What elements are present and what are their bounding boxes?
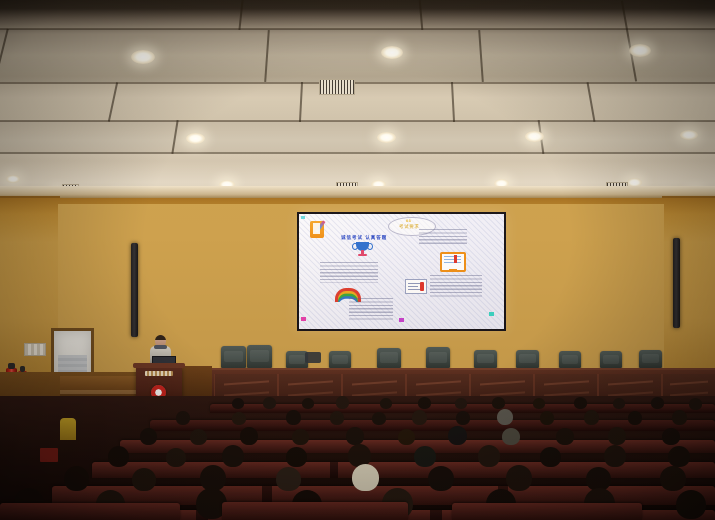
slide-corner-marker <box>489 312 494 316</box>
yellow-jacket-attendee <box>60 418 76 440</box>
audience-head <box>380 398 392 409</box>
audience-head <box>286 447 307 467</box>
trophy-icon <box>356 242 369 256</box>
audience-head <box>608 427 626 445</box>
audience-seat-row-front[interactable] <box>222 502 408 520</box>
audience-head <box>672 410 687 425</box>
audience-head <box>556 428 574 445</box>
ceiling-downlight <box>629 44 651 57</box>
audience-head <box>232 412 246 425</box>
presenter-collar <box>154 345 167 349</box>
slide-corner-marker <box>301 317 306 321</box>
audience-head <box>330 411 344 425</box>
audience-seat-row-front[interactable] <box>452 503 642 520</box>
audience-head <box>222 445 244 467</box>
audience-head <box>574 397 587 409</box>
auditorium-photo: 03 考试要求 诚信考试 认真答题 <box>0 0 715 520</box>
ceiling-downlight <box>680 130 698 140</box>
audience-head <box>497 409 513 425</box>
slide-section-title: 考试要求 <box>399 224 419 230</box>
audience-head <box>140 428 157 445</box>
stage-riser <box>178 366 212 400</box>
audience-head <box>352 464 379 491</box>
audience-head <box>132 468 156 491</box>
audience-head <box>286 410 301 425</box>
audience-head <box>428 466 454 491</box>
audience-head <box>448 426 467 445</box>
notepad-pencil-icon <box>310 221 324 238</box>
audience-head <box>689 398 702 410</box>
stage-chair[interactable] <box>559 351 581 368</box>
audience-head <box>502 428 520 445</box>
stage-chair[interactable] <box>516 350 539 368</box>
audience-head <box>176 411 190 425</box>
slide-corner-marker <box>399 318 404 322</box>
audience-head <box>651 397 664 409</box>
ceiling-downlight <box>131 50 155 64</box>
audience-head <box>613 398 625 409</box>
presentation-slide: 03 考试要求 诚信考试 认真答题 <box>299 214 504 329</box>
audience-head <box>240 427 258 445</box>
audience-head <box>190 429 207 445</box>
audience-head <box>64 466 89 491</box>
text-block-right-lower <box>430 275 482 299</box>
audience-head <box>628 411 642 425</box>
document-card-icon <box>405 279 427 294</box>
ceiling-downlight <box>6 175 20 183</box>
audience-head <box>584 410 599 425</box>
seated-audience <box>0 396 715 520</box>
audience-head <box>478 445 500 467</box>
wall-speaker-right <box>673 238 680 328</box>
text-block-left-upper <box>320 262 378 283</box>
audience-head <box>414 446 436 467</box>
audience-head <box>412 410 427 425</box>
audience-head <box>336 396 349 409</box>
stage-chair[interactable] <box>221 346 246 368</box>
stage-chair[interactable] <box>377 348 401 368</box>
audience-head <box>418 397 431 409</box>
audience-head <box>232 398 244 409</box>
suspended-ceiling <box>0 0 715 212</box>
stage-side-monitor <box>305 352 321 363</box>
stage-chair[interactable] <box>426 347 450 368</box>
ceiling-downlight <box>377 132 396 143</box>
red-folder <box>40 448 58 462</box>
stage-chair[interactable] <box>247 345 272 368</box>
audience-head <box>604 445 626 467</box>
monitor-icon <box>440 252 466 272</box>
audience-head <box>398 429 415 445</box>
audience-head <box>166 448 186 467</box>
slide-corner-marker <box>301 216 305 219</box>
audience-head <box>455 398 467 409</box>
ceiling-downlight <box>186 133 205 144</box>
ceiling-downlight <box>525 131 544 142</box>
projection-screen: 03 考试要求 诚信考试 认真答题 <box>297 212 506 331</box>
text-block-left-lower <box>349 298 393 322</box>
stage-chair[interactable] <box>474 350 497 368</box>
audience-head <box>456 411 470 425</box>
audience-head <box>676 490 706 519</box>
wall-speaker-left <box>131 243 138 337</box>
audience-head <box>292 429 309 445</box>
slide-subheading: 诚信考试 认真答题 <box>341 235 387 241</box>
audience-head <box>372 412 386 425</box>
text-block-right-upper <box>419 229 467 244</box>
ceiling-downlight <box>381 46 403 59</box>
stage-chair[interactable] <box>639 350 662 368</box>
audience-head <box>660 466 686 491</box>
audience-head <box>108 446 129 467</box>
audience-head <box>540 411 554 425</box>
audience-head <box>302 398 314 409</box>
audience-head <box>346 427 364 445</box>
stage-chair[interactable] <box>600 351 622 368</box>
audience-head <box>662 428 680 445</box>
audience-head <box>668 446 690 467</box>
audience-head <box>492 397 505 409</box>
slide-section-number: 03 <box>406 218 411 223</box>
audience-seat-row-front[interactable] <box>0 503 180 520</box>
podium-nameplate <box>145 371 173 376</box>
audience-head <box>540 447 561 467</box>
audience-head <box>276 467 301 491</box>
ceiling-air-vent <box>319 79 355 95</box>
audience-head <box>533 398 545 409</box>
audience-head <box>263 397 276 409</box>
stage-chair[interactable] <box>329 351 351 368</box>
light-switch-panel[interactable] <box>24 343 46 356</box>
audience-head <box>506 465 532 491</box>
